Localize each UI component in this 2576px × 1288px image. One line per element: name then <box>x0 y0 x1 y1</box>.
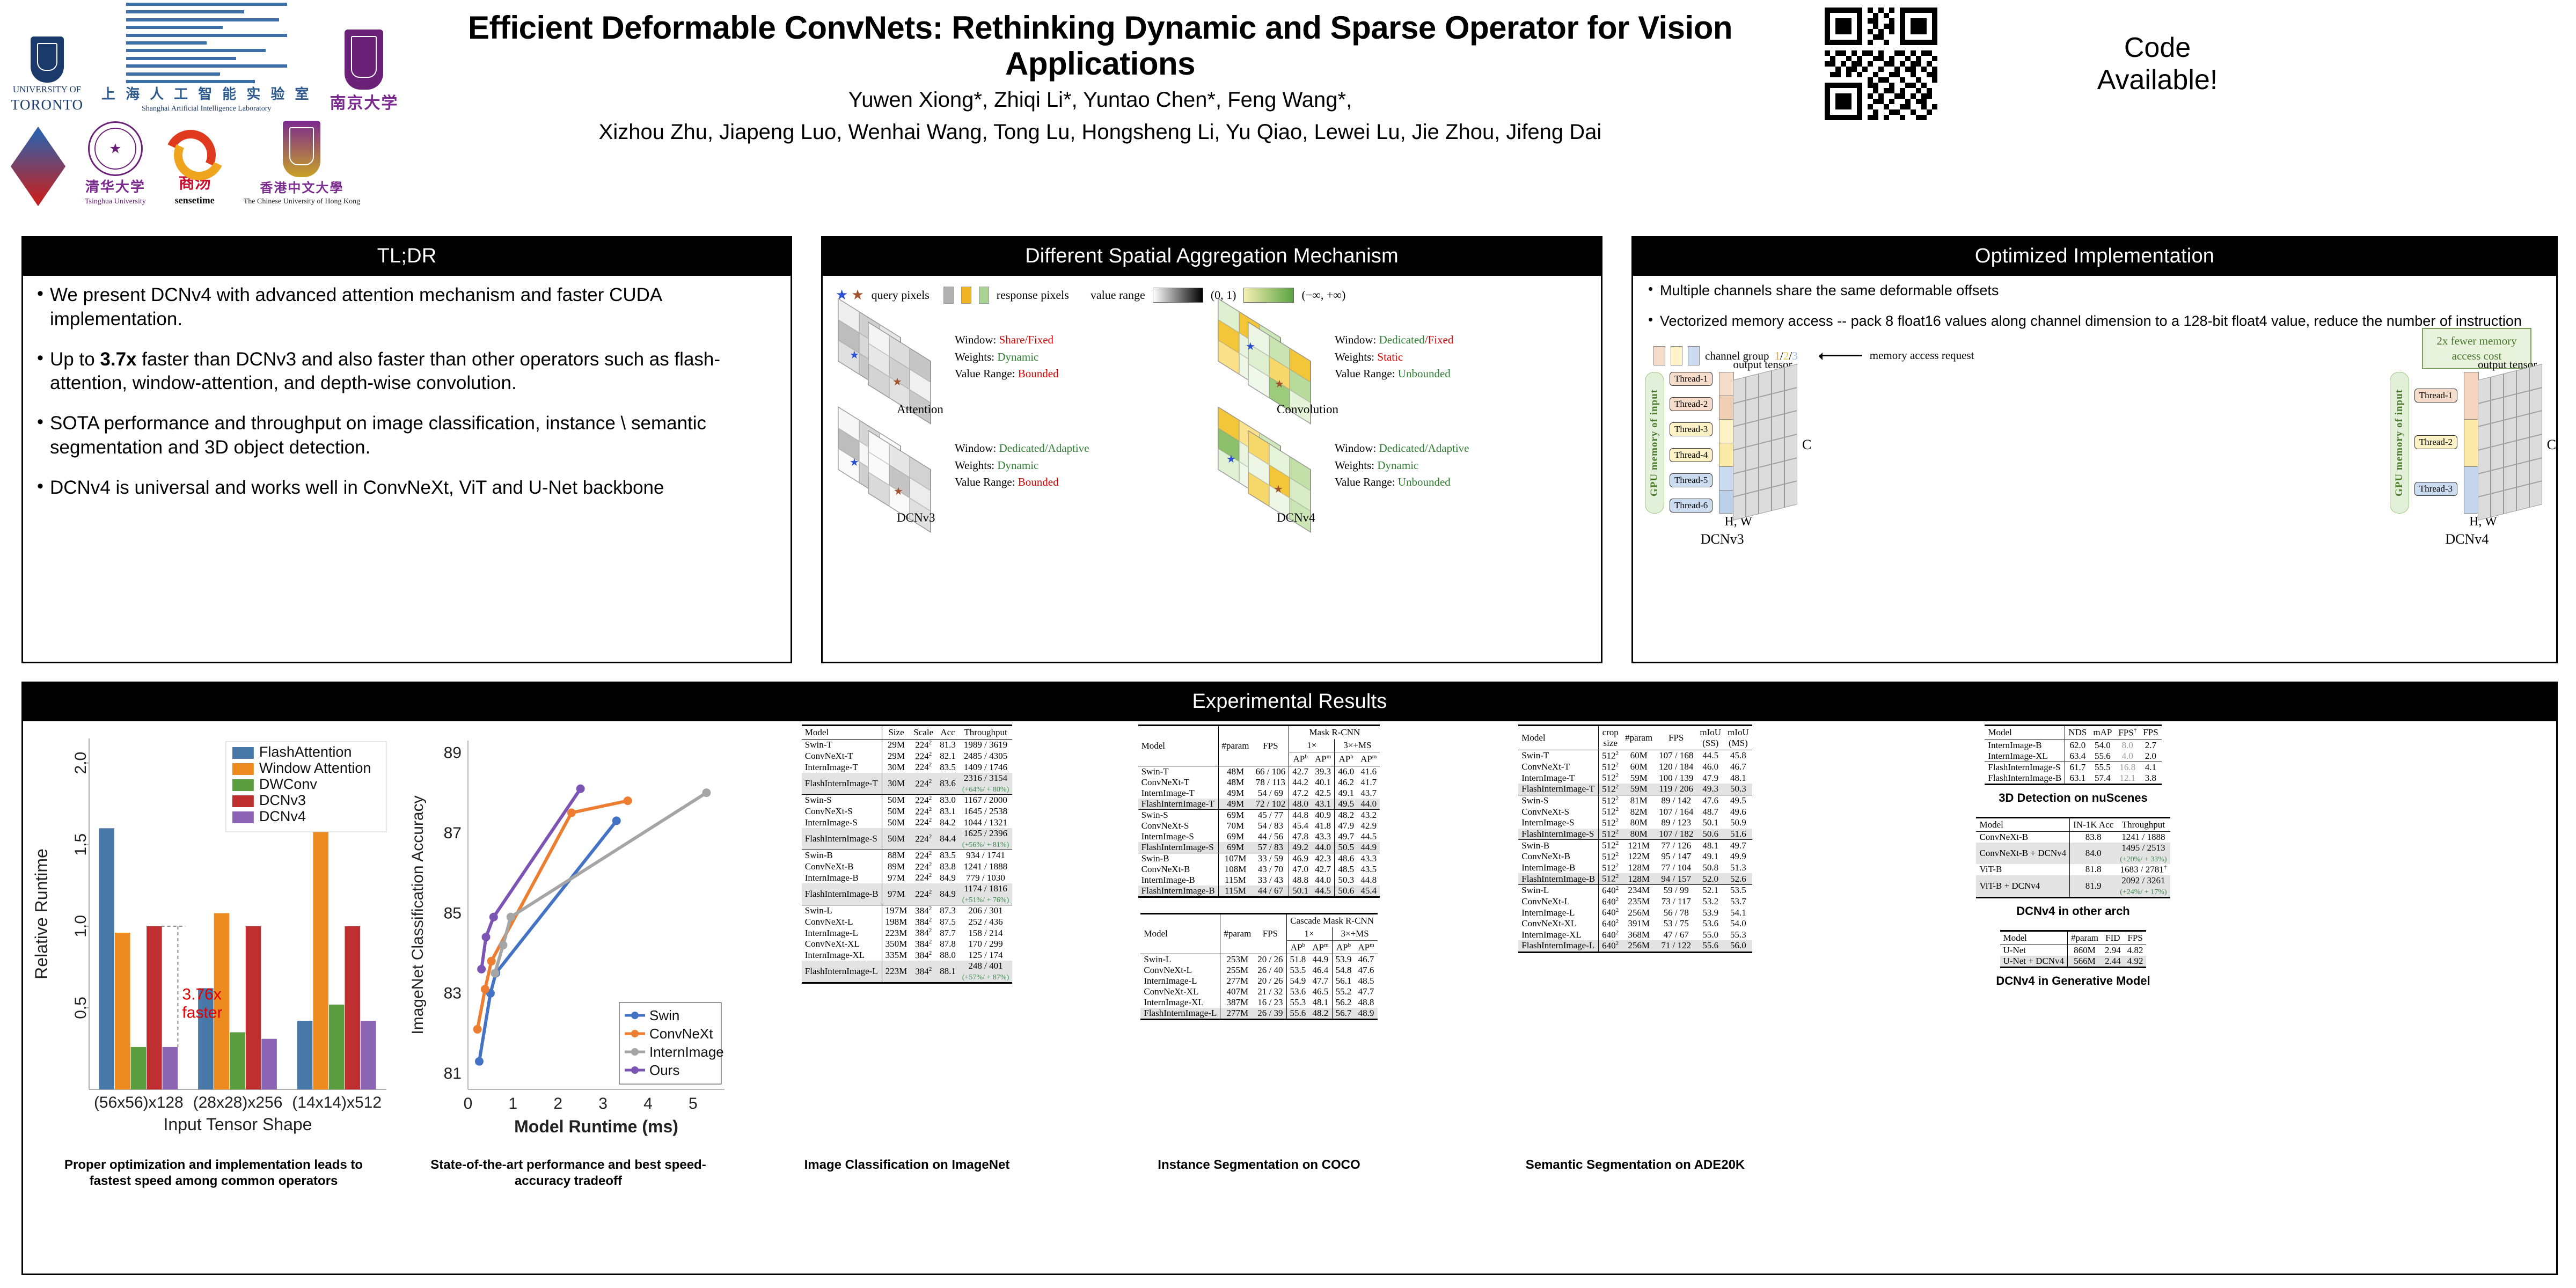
table-cell: 41.8 <box>1312 821 1335 831</box>
data-table: Model#paramFPSMask R-CNN1×3×+MSAPbAPmAPb… <box>1138 724 1380 898</box>
table-cell: 52.1 <box>1696 884 1724 896</box>
table-cell: InternImage-XL <box>802 950 882 961</box>
table-cell: 43 / 70 <box>1253 864 1289 875</box>
table-header: #param <box>1622 726 1656 750</box>
table-cell: InternImage-B <box>802 872 882 883</box>
table-body: ConvNeXt-B83.81241 / 1888ConvNeXt-B + DC… <box>1976 832 2170 898</box>
svg-text:Input Tensor Shape: Input Tensor Shape <box>164 1115 312 1134</box>
table-cell: 84.2 <box>936 817 959 828</box>
table-header: Model <box>802 726 882 740</box>
table-cell: 48.1 <box>1309 997 1332 1008</box>
svg-text:3: 3 <box>598 1095 608 1113</box>
table-cell: 2242 <box>910 817 936 828</box>
logo-internlm <box>11 127 65 206</box>
table-cell: 5122 <box>1599 762 1622 773</box>
gain-text: (+51%/ + 76%) <box>962 896 1009 904</box>
output-tensor-right-icon: output tensor C <box>2464 372 2544 513</box>
table-cell: 83.5 <box>936 850 959 861</box>
table-row: Model#paramFPSCascade Mask R-CNN <box>1140 913 1377 927</box>
sensetime-infinity-icon <box>165 128 224 170</box>
table-cell: ViT-B + DCNv4 <box>1976 875 2069 898</box>
imagenet-table-wrap: ModelSizeScaleAccThroughputSwin-T29M2242… <box>802 724 1012 1154</box>
table-cell: InternImage-T <box>1138 788 1218 799</box>
table-row: InternImage-XL387M16 / 2355.348.156.248.… <box>1140 997 1377 1008</box>
table-row: FlashInternImage-T30M224283.62316 / 3154… <box>802 773 1012 795</box>
author-line-2: Xizhou Zhu, Jiapeng Luo, Wenhai Wang, To… <box>376 118 1825 146</box>
table-row: InternImage-XL335M384288.0125 / 174 <box>802 950 1012 961</box>
table-body: U-Net860M2.944.82U-Net + DCNv4566M2.444.… <box>2000 945 2147 968</box>
table-head: ModelSizeScaleAccThroughput <box>802 726 1012 740</box>
svg-text:Relative Runtime: Relative Runtime <box>32 848 51 979</box>
svg-text:5: 5 <box>689 1095 698 1113</box>
data-table: ModelSizeScaleAccThroughputSwin-T29M2242… <box>802 724 1012 984</box>
table-cell: 49M <box>1218 799 1252 810</box>
memory-request-label: memory access request <box>1870 349 1974 362</box>
table-cell: 1241 / 1888 <box>959 861 1012 873</box>
table-header: APb <box>1286 940 1309 954</box>
table-cell: 82M <box>1622 806 1656 817</box>
table-cell: 46.7 <box>1355 954 1377 965</box>
table-cell: 71 / 122 <box>1656 940 1696 952</box>
table-cell: 72 / 102 <box>1253 799 1289 810</box>
svg-text:Ours: Ours <box>649 1062 679 1078</box>
table-cell: 5122 <box>1599 806 1622 817</box>
gradient-bounded-icon <box>1153 288 1203 303</box>
author-line-1: Yuwen Xiong*, Zhiqi Li*, Yuntao Chen*, F… <box>376 86 1825 114</box>
table-cell: 4.82 <box>2124 945 2147 956</box>
gain-text: (+20%/ + 33%) <box>2120 855 2167 863</box>
otherarch-table-wrap: ModelIN-1K AccThroughputConvNeXt-B83.812… <box>1976 817 2170 898</box>
table-cell: 89 / 123 <box>1656 817 1696 829</box>
table-cell: 88.1 <box>936 961 959 983</box>
qr-code[interactable] <box>1825 8 1937 120</box>
table-cell: 256M <box>1622 907 1656 918</box>
table-cell: 44.5 <box>1312 885 1335 897</box>
table-cell: 5122 <box>1599 784 1622 795</box>
table-row: Swin-B88M224283.5934 / 1741 <box>802 850 1012 861</box>
table-cell: ConvNeXt-L <box>1140 965 1220 976</box>
table-cell: 234M <box>1622 884 1656 896</box>
table-row: ConvNeXt-T48M78 / 11344.240.146.241.7 <box>1138 777 1380 788</box>
table-cell: Swin-L <box>1140 954 1220 965</box>
table-row: Swin-T29M224281.31989 / 3619 <box>802 740 1012 751</box>
table-row: ConvNeXt-XL407M21 / 3253.646.555.247.7 <box>1140 986 1377 997</box>
table-cell: 50M <box>882 828 910 850</box>
table-cell: 1409 / 1746 <box>959 762 1012 773</box>
table-cell: 44.9 <box>1357 842 1380 853</box>
spatial-cell-name: Convolution <box>1277 402 1338 416</box>
table-cell: FlashInternImage-T <box>1138 799 1218 810</box>
table-cell: Swin-S <box>1138 809 1218 821</box>
poster-root: UNIVERSITY OF TORONTO 上 海 人 工 智 能 实 验 室 … <box>0 0 2576 1288</box>
table-cell: 48.9 <box>1355 1008 1377 1020</box>
table-cell: 81.9 <box>2070 875 2117 898</box>
svg-text:0: 0 <box>464 1095 473 1113</box>
table-cell: FlashInternImage-T <box>802 773 882 795</box>
table-cell: 69M <box>1218 842 1252 853</box>
table-cell: 87.3 <box>936 905 959 916</box>
table-cell: ConvNeXt-L <box>802 917 882 928</box>
cuhk-crest-icon <box>283 121 320 177</box>
legend-value-range-label: value range <box>1091 288 1145 302</box>
thread-chip: Thread-3 <box>1670 422 1713 436</box>
svg-text:ConvNeXt: ConvNeXt <box>649 1026 713 1042</box>
table-cell: 83.1 <box>936 806 959 817</box>
table-cell: 48M <box>1218 766 1252 777</box>
table-cell: 30M <box>882 773 910 795</box>
table-cell: 235M <box>1622 896 1656 908</box>
list-item: Vectorized memory access -- pack 8 float… <box>1645 312 2544 331</box>
result-col-imagenet: ModelSizeScaleAccThroughputSwin-T29M2242… <box>738 724 1076 1189</box>
table-cell: 89M <box>882 861 910 873</box>
table-header: APb <box>1335 752 1357 766</box>
table-header: NDS <box>2065 726 2090 740</box>
table-row: U-Net + DCNv4566M2.444.92 <box>2000 956 2147 968</box>
table-cell: ConvNeXt-T <box>1138 777 1218 788</box>
title-block: Efficient Deformable ConvNets: Rethinkin… <box>376 10 1825 146</box>
dcnv4-planes-icon: ★ ★ <box>1218 419 1330 521</box>
table-cell: 47.0 <box>1289 864 1312 875</box>
table-cell: 50.6 <box>1696 829 1724 840</box>
panel-impl: Optimized Implementation Multiple channe… <box>1631 236 2558 663</box>
table-cell: 50.3 <box>1335 875 1357 885</box>
table-cell: ConvNeXt-XL <box>802 939 882 950</box>
table-header: mIoU(MS) <box>1724 726 1752 750</box>
table-cell: 49.2 <box>1289 842 1312 853</box>
table-cell: 934 / 1741 <box>959 850 1012 861</box>
svg-text:Model Runtime (ms): Model Runtime (ms) <box>514 1117 678 1136</box>
logo-caption: 清华大学 <box>85 176 145 196</box>
table-row: InternImage-XL6402368M47 / 6755.055.3 <box>1518 930 1752 941</box>
table-cell: 40.9 <box>1312 809 1335 821</box>
table-head: ModelNDSmAPFPS†FPS <box>1985 726 2161 740</box>
spatial-legend: ★ ★ query pixels response pixels value r… <box>836 287 1591 304</box>
table-cell: 43.3 <box>1357 853 1380 864</box>
table-header: mIoU(SS) <box>1696 726 1724 750</box>
table-header: Cascade Mask R-CNN <box>1286 913 1378 927</box>
data-table: Model#paramFIDFPSU-Net860M2.944.82U-Net … <box>2000 930 2147 968</box>
impl-diagram-name: DCNv4 <box>2390 531 2544 547</box>
table-head: Model#paramFPSMask R-CNN1×3×+MSAPbAPmAPb… <box>1138 726 1380 766</box>
table-row: ConvNeXt-S50M224283.11645 / 2538 <box>802 806 1012 817</box>
table-cell: 46.5 <box>1309 986 1332 997</box>
table-cell: 60M <box>1622 750 1656 762</box>
table-header: Mask R-CNN <box>1289 726 1380 740</box>
table-cell: 33 / 43 <box>1253 875 1289 885</box>
logo-tsinghua-university: 清华大学 Tsinghua University <box>85 121 146 206</box>
table-cell: FlashInternImage-B <box>1985 773 2065 785</box>
panel-results-title: Experimental Results <box>23 683 2556 721</box>
table-cell: InternImage-XL <box>1140 997 1220 1008</box>
table-cell: 88M <box>882 850 910 861</box>
table-cell: 53.9 <box>1696 907 1724 918</box>
logo-caption: The Chinese University of Hong Kong <box>244 197 360 206</box>
table-cell: ConvNeXt-B + DCNv4 <box>1976 843 2069 864</box>
table-header: Size <box>882 726 910 740</box>
table-cell: 2242 <box>910 740 936 751</box>
table-cell: 44.5 <box>1696 750 1724 762</box>
table-cell: 45.4 <box>1357 885 1380 897</box>
table-cell: 55.0 <box>1696 930 1724 941</box>
svg-text:Window Attention: Window Attention <box>259 760 371 776</box>
table-cell: 60M <box>1622 762 1656 773</box>
table-body: Swin-L253M20 / 2651.844.953.946.7ConvNeX… <box>1140 954 1377 1020</box>
gpu-memory-bar-right: GPU memory of input <box>2390 372 2409 514</box>
table-cell: 41.7 <box>1357 777 1380 788</box>
table-cell: Swin-T <box>802 740 882 751</box>
table-cell: 125 / 174 <box>959 950 1012 961</box>
table-cell: 5122 <box>1599 772 1622 784</box>
list-item: Up to 3.7x faster than DCNv3 and also fa… <box>34 348 780 396</box>
table-cell: 51.3 <box>1724 862 1752 874</box>
table-cell: 77 / 104 <box>1656 862 1696 874</box>
logo-cuhk: 香港中文大學 The Chinese University of Hong Ko… <box>244 121 360 206</box>
panel-results: Experimental Results 0.51.01.52.0(56x56)… <box>21 682 2558 1275</box>
caption-ade20k: Semantic Segmentation on ADE20K <box>1526 1157 1745 1173</box>
table-row: ConvNeXt-B + DCNv484.01495 / 2513(+20%/ … <box>1976 843 2170 864</box>
table-row: ModelSizeScaleAccThroughput <box>802 726 1012 740</box>
memory-request-arrow-icon <box>1819 355 1862 356</box>
table-cell: 50.8 <box>1696 862 1724 874</box>
table-row: InternImage-L223M384287.7158 / 214 <box>802 927 1012 939</box>
spatial-cell-convolution: ★ ★ Window: Dedicated/Fixed Weights: Sta… <box>1212 307 1591 414</box>
table-head: ModelIN-1K AccThroughput <box>1976 818 2170 832</box>
table-cell: 53.9 <box>1332 954 1355 965</box>
table-cell: 47.9 <box>1335 821 1357 831</box>
table-cell: 63.4 <box>2065 751 2090 762</box>
table-header: mAP <box>2090 726 2115 740</box>
table-cell: 48M <box>1218 777 1252 788</box>
table-row: FlashInternImage-S50M224284.41625 / 2396… <box>802 828 1012 850</box>
table-cell: 2.0 <box>2140 751 2161 762</box>
table-cell: 59M <box>1622 784 1656 795</box>
table-row: InternImage-B115M33 / 4348.844.050.344.8 <box>1138 875 1380 885</box>
swatch-green-icon <box>979 287 989 304</box>
table-cell: 47.9 <box>1696 772 1724 784</box>
table-body: Swin-T512260M107 / 16844.545.8ConvNeXt-T… <box>1518 750 1752 953</box>
table-cell: 6402 <box>1599 918 1622 930</box>
table-cell: 1495 / 2513(+20%/ + 33%) <box>2117 843 2170 864</box>
table-cell: 59M <box>1622 772 1656 784</box>
table-cell: FlashInternImage-L <box>1140 1008 1220 1020</box>
table-row: FlashInternImage-L6402256M71 / 12255.656… <box>1518 940 1752 952</box>
table-cell: 56.7 <box>1332 1008 1355 1020</box>
table-row: ConvNeXt-L198M384287.5252 / 436 <box>802 917 1012 928</box>
logo-caption: Shanghai Artificial Intelligence Laborat… <box>142 105 271 113</box>
table-cell: InternImage-XL <box>1518 930 1598 941</box>
table-header: 3×+MS <box>1335 739 1380 752</box>
spatial-quad-grid: ★ ★ Window: Share/Fixed Weights: Dynamic… <box>832 307 1591 523</box>
table-header: FID <box>2102 931 2124 945</box>
table-cell: 46.9 <box>1289 853 1312 864</box>
table-cell: 87.5 <box>936 917 959 928</box>
table-cell: 44.8 <box>1357 875 1380 885</box>
table-cell: 49.3 <box>1696 784 1724 795</box>
table-cell: 29M <box>882 740 910 751</box>
table-cell: 20 / 26 <box>1254 976 1286 986</box>
table-cell: ConvNeXt-S <box>802 806 882 817</box>
svg-text:faster: faster <box>182 1004 222 1022</box>
table-row: FlashInternImage-S61.755.516.84.1 <box>1985 762 2161 773</box>
logo-caption: 上 海 人 工 智 能 实 验 室 <box>101 83 311 103</box>
table-cell: 87.8 <box>936 939 959 950</box>
table-cell: 54.0 <box>1724 918 1752 930</box>
coco-table-wrap: Model#paramFPSMask R-CNN1×3×+MSAPbAPmAPb… <box>1138 724 1380 1154</box>
table-cell: 39.3 <box>1312 766 1335 777</box>
table-cell: ConvNeXt-S <box>1518 806 1598 817</box>
table-cell: 2242 <box>910 883 936 905</box>
table-cell: 81.8 <box>2070 864 2117 875</box>
table-header: APm <box>1357 752 1380 766</box>
table-cell: 256M <box>1622 940 1656 952</box>
table-cell: 2242 <box>910 773 936 795</box>
list-item: We present DCNv4 with advanced attention… <box>34 283 780 332</box>
table-header: IN-1K Acc <box>2070 818 2117 832</box>
table-row: Swin-L253M20 / 2651.844.953.946.7 <box>1140 954 1377 965</box>
table-cell: Swin-S <box>1518 795 1598 806</box>
table-cell: 248 / 401(+57%/ + 87%) <box>959 961 1012 983</box>
table-cell: 84.9 <box>936 883 959 905</box>
panel-tldr: TL;DR We present DCNv4 with advanced att… <box>21 236 792 663</box>
table-cell: 115M <box>1218 875 1252 885</box>
table-cell: 5122 <box>1599 795 1622 806</box>
table-row: Swin-L197M384287.3206 / 301 <box>802 905 1012 916</box>
table-cell: 83.8 <box>2070 832 2117 843</box>
table-row: InternImage-B62.054.08.02.7 <box>1985 740 2161 751</box>
table-cell: 47.2 <box>1289 788 1312 799</box>
table-header: 1× <box>1286 927 1332 941</box>
table-cell: ConvNeXt-XL <box>1140 986 1220 997</box>
table-header: 3×+MS <box>1332 927 1378 941</box>
table-cell: 50M <box>882 806 910 817</box>
table-cell: 80M <box>1622 817 1656 829</box>
panel-impl-body: Multiple channels share the same deforma… <box>1633 276 2556 553</box>
svg-text:DCNv4: DCNv4 <box>259 808 306 824</box>
panel-tldr-body: We present DCNv4 with advanced attention… <box>23 276 791 524</box>
table-header: FPS <box>2124 931 2147 945</box>
table-cell: 2242 <box>910 794 936 806</box>
table-cell: 206 / 301 <box>959 905 1012 916</box>
table-cell: 2092 / 3261(+24%/ + 17%) <box>2117 875 2170 898</box>
thread-list-left: Thread-1 Thread-2 Thread-3 Thread-4 Thre… <box>1670 372 1713 513</box>
relative-runtime-bar-chart: 0.51.01.52.0(56x56)x128(28x28)x256(14x14… <box>31 724 396 1154</box>
table-cell: 48.1 <box>1696 840 1724 851</box>
table-body: Swin-T48M66 / 10642.739.346.041.6ConvNeX… <box>1138 766 1380 897</box>
table-cell: 368M <box>1622 930 1656 941</box>
table-cell: InternImage-S <box>802 817 882 828</box>
table-cell: 56.0 <box>1724 940 1752 952</box>
table-cell: 44 / 56 <box>1253 831 1289 842</box>
table-cell: 49.1 <box>1335 788 1357 799</box>
table-cell: ConvNeXt-XL <box>1518 918 1598 930</box>
table-cell: 44.8 <box>1289 809 1312 821</box>
data-table: Model#paramFPSCascade Mask R-CNN1×3×+MSA… <box>1140 913 1377 1021</box>
table-cell: 50.1 <box>1696 817 1724 829</box>
table-cell: 3842 <box>910 961 936 983</box>
impl-diagram-dcnv4: GPU memory of input Thread-1 Thread-2 Th… <box>2390 372 2544 547</box>
logo-caption: TORONTO <box>11 97 83 113</box>
table-row: InternImage-T49M54 / 6947.242.549.143.7 <box>1138 788 1380 799</box>
svg-text:DCNv3: DCNv3 <box>259 792 306 808</box>
attention-properties: Window: Share/Fixed Weights: Dynamic Val… <box>955 332 1059 383</box>
svg-text:83: 83 <box>444 985 462 1002</box>
svg-text:81: 81 <box>444 1065 462 1082</box>
table-cell: InternImage-L <box>802 927 882 939</box>
table-cell: 81.3 <box>936 740 959 751</box>
table-cell: 2242 <box>910 828 936 850</box>
table-cell: 47.6 <box>1696 795 1724 806</box>
spatial-cell-dcnv3: ★ ★ Window: Dedicated/Adaptive Weights: … <box>832 415 1211 523</box>
table-cell: 3842 <box>910 927 936 939</box>
table-header: Model <box>2000 931 2068 945</box>
table-row: InternImage-S50M224284.21044 / 1321 <box>802 817 1012 828</box>
panel-results-body: 0.51.01.52.0(56x56)x128(28x28)x256(14x14… <box>23 721 2556 1192</box>
table-header: Model <box>1140 913 1220 954</box>
table-cell: 391M <box>1622 918 1656 930</box>
table-cell: ConvNeXt-B <box>1976 832 2069 843</box>
svg-text:Swin: Swin <box>649 1007 679 1023</box>
table-cell: ConvNeXt-S <box>1138 821 1218 831</box>
spatial-cell-name: DCNv4 <box>1277 511 1315 525</box>
table-cell: 42.7 <box>1312 864 1335 875</box>
table-cell: 84.9 <box>936 872 959 883</box>
table-row: Swin-T48M66 / 10642.739.346.041.6 <box>1138 766 1380 777</box>
table-cell: 3842 <box>910 917 936 928</box>
table-cell: 2242 <box>910 850 936 861</box>
table-header: APm <box>1312 752 1335 766</box>
table-cell: 223M <box>882 961 910 983</box>
table-cell: InternImage-S <box>1518 817 1598 829</box>
table-row: ConvNeXt-B83.81241 / 1888 <box>1976 832 2170 843</box>
table-row: InternImage-B97M224284.9779 / 1030 <box>802 872 1012 883</box>
table-cell: 1241 / 1888 <box>2117 832 2170 843</box>
table-cell: 87.7 <box>936 927 959 939</box>
table-head: Modelcropsize#paramFPSmIoU(SS)mIoU(MS) <box>1518 726 1752 750</box>
output-tensor-left-icon: output tensor C <box>1719 372 1799 513</box>
logo-caption: 香港中文大學 <box>260 177 343 196</box>
table-header: FPS <box>1254 913 1286 954</box>
table-cell: 223M <box>882 927 910 939</box>
impl-bullet-list: Multiple channels share the same deforma… <box>1645 281 2544 330</box>
table-cell: 88.0 <box>936 950 959 961</box>
table-cell: 54.0 <box>2090 740 2115 751</box>
table-cell: 73 / 117 <box>1656 896 1696 908</box>
table-cell: 69M <box>1218 809 1252 821</box>
table-row: FlashInternImage-B115M44 / 6750.144.550.… <box>1138 885 1380 897</box>
table-cell: 4.1 <box>2140 762 2161 773</box>
table-cell: FlashInternImage-B <box>1518 873 1598 884</box>
table-cell: 3842 <box>910 950 936 961</box>
table-cell: 12.1 <box>2115 773 2140 785</box>
thread-chip: Thread-2 <box>2414 435 2457 449</box>
table-cell: 49.7 <box>1335 831 1357 842</box>
svg-text:(14x14)x512: (14x14)x512 <box>292 1094 382 1111</box>
table-cell: 5122 <box>1599 851 1622 862</box>
table-cell: 252 / 436 <box>959 917 1012 928</box>
table-cell: 16.8 <box>2115 762 2140 773</box>
table-row: InternImage-T30M224283.51409 / 1746 <box>802 762 1012 773</box>
table-cell: 83.6 <box>936 773 959 795</box>
table-cell: 2.94 <box>2102 945 2124 956</box>
table-cell: 97M <box>882 872 910 883</box>
table-cell: 55.3 <box>1724 930 1752 941</box>
table-cell: 53.5 <box>1724 884 1752 896</box>
table-row: InternImage-S512280M89 / 12350.150.9 <box>1518 817 1752 829</box>
thread-chip: Thread-1 <box>2414 389 2457 402</box>
code-available-label: Code Available! <box>1970 32 2345 97</box>
table-cell: 5122 <box>1599 817 1622 829</box>
table-cell: 3842 <box>910 905 936 916</box>
